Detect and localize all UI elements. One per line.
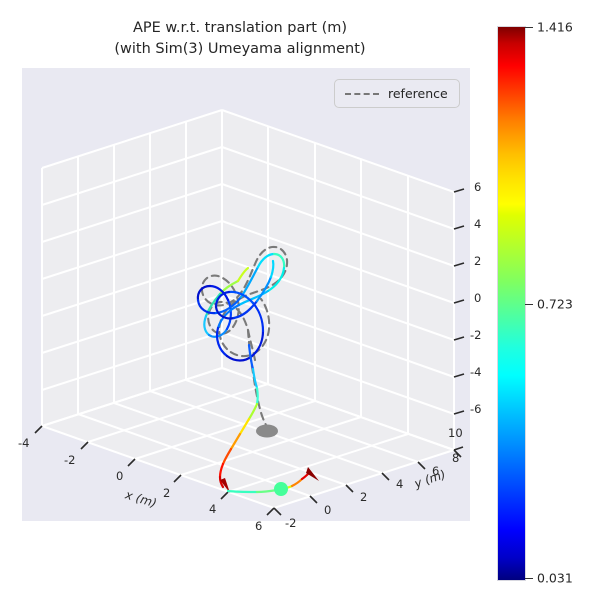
y-tick-label: -2 (285, 516, 296, 530)
z-tick-label: 0 (474, 291, 481, 305)
colorbar-min-label: 0.031 (537, 571, 573, 586)
y-tick-label: 8 (452, 451, 459, 465)
z-tick-label: -2 (470, 328, 481, 342)
z-tick-label: -4 (470, 365, 481, 379)
y-tick-label: 4 (396, 477, 403, 491)
axes-3d-svg (22, 68, 470, 521)
colorbar-tickmark (525, 27, 533, 28)
colorbar-max-label: 1.416 (537, 20, 573, 35)
colorbar-mid-label: 0.723 (537, 297, 573, 312)
legend-entry-label: reference (388, 86, 448, 101)
z-tick-label: 4 (474, 217, 481, 231)
z-tick-label: 6 (474, 180, 481, 194)
plot-3d-axes: -4 -2 0 2 4 6 x (m) -2 0 2 4 6 8 10 y (m… (22, 68, 470, 521)
z-tick-label: 2 (474, 254, 481, 268)
legend-dashed-line-icon (345, 93, 379, 95)
x-tick-label: -4 (18, 436, 29, 450)
x-tick-label: 2 (163, 486, 170, 500)
y-tick-label: 2 (360, 490, 367, 504)
x-tick-label: 4 (209, 502, 216, 516)
colorbar-tickmark (525, 304, 533, 305)
x-tick-label: 6 (255, 519, 262, 533)
legend[interactable]: reference (334, 79, 460, 108)
colorbar-tickmark (525, 578, 533, 579)
z-tick-label: -6 (470, 402, 481, 416)
y-tick-label: 0 (324, 503, 331, 517)
y-tick-label: 10 (448, 426, 463, 440)
x-tick-label: 0 (116, 469, 123, 483)
x-tick-label: -2 (64, 453, 75, 467)
figure-canvas: APE w.r.t. translation part (m) (with Si… (0, 0, 600, 600)
colorbar-gradient (497, 26, 526, 581)
colorbar-group: 1.416 0.723 0.031 (497, 26, 526, 581)
page-title: APE w.r.t. translation part (m) (with Si… (0, 18, 480, 59)
